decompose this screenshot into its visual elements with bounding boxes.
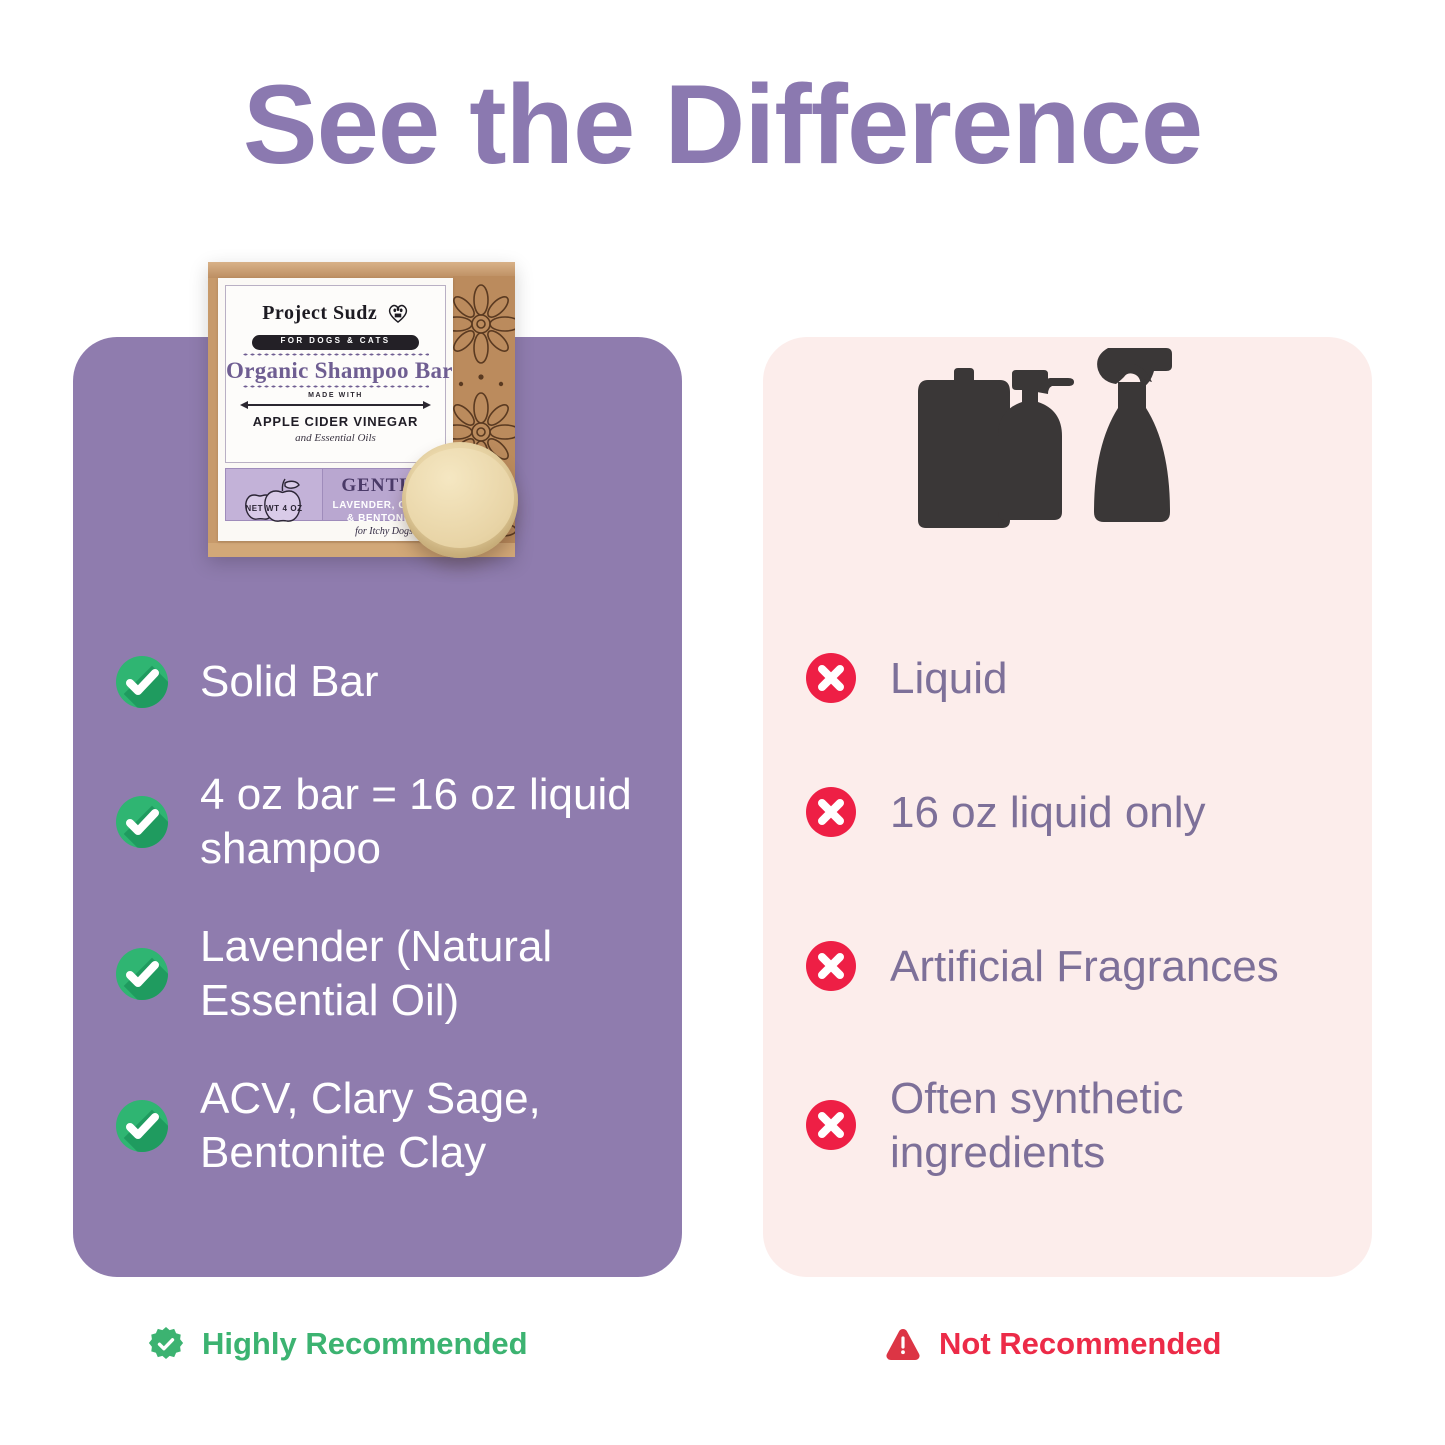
good-list-item-3: Lavender (Natural Essential Oil) (116, 920, 636, 1027)
page-title: See the Difference (0, 66, 1445, 184)
package-label-upper: Project Sudz FOR DOGS & CATS Or (225, 285, 446, 463)
verified-badge-icon (148, 1326, 184, 1362)
main-ingredient: APPLE CIDER VINEGAR (226, 414, 445, 429)
product-title: Organic Shampoo Bar (226, 358, 445, 384)
x-circle-icon (806, 941, 858, 993)
brand-text: Project Sudz (262, 302, 377, 324)
net-weight-text: NET WT 4 OZ (226, 504, 322, 513)
check-circle-icon (116, 796, 168, 848)
good-list-item-1: Solid Bar (116, 655, 636, 709)
good-list-item-2-label: 4 oz bar = 16 oz liquid shampoo (200, 768, 636, 875)
shampoo-bar-product-image: Project Sudz FOR DOGS & CATS Or (180, 238, 580, 598)
tagline-banner: FOR DOGS & CATS (252, 335, 419, 350)
good-list-item-3-label: Lavender (Natural Essential Oil) (200, 920, 636, 1027)
dot-rule-top (242, 353, 429, 356)
plain-bottle-silhouette (918, 368, 1010, 528)
brand-name: Project Sudz (226, 302, 445, 325)
good-list-item-1-label: Solid Bar (200, 655, 379, 709)
infographic-page: See the Difference (0, 0, 1445, 1445)
good-list-item-2: 4 oz bar = 16 oz liquid shampoo (116, 768, 636, 875)
tagline-text: FOR DOGS & CATS (252, 336, 419, 345)
x-circle-icon (806, 1100, 858, 1152)
bad-list-item-2: 16 oz liquid only (806, 786, 1346, 840)
x-circle-icon (806, 653, 858, 705)
check-circle-icon (116, 656, 168, 708)
check-circle-icon (116, 948, 168, 1000)
good-footer: Highly Recommended (148, 1326, 528, 1362)
bad-footer-label: Not Recommended (939, 1326, 1221, 1362)
bad-list-item-4: Often synthetic ingredients (806, 1072, 1326, 1179)
bad-list-item-3: Artificial Fragrances (806, 940, 1366, 994)
soap-bar-disc-icon (402, 442, 518, 558)
good-list-item-4-label: ACV, Clary Sage, Bentonite Clay (200, 1072, 636, 1179)
apple-pane: NET WT 4 OZ (226, 469, 323, 520)
check-circle-icon (116, 1100, 168, 1152)
bad-list-item-1: Liquid (806, 652, 1346, 706)
bad-list-item-2-label: 16 oz liquid only (890, 786, 1206, 840)
x-circle-icon (806, 787, 858, 839)
liquid-bottles-image (890, 268, 1220, 568)
apple-illustration-icon (240, 477, 306, 523)
spray-bottle-silhouette (1094, 348, 1172, 522)
made-with-label: MADE WITH (226, 392, 445, 399)
sub-ingredient: and Essential Oils (226, 432, 445, 444)
bad-list-item-4-label: Often synthetic ingredients (890, 1072, 1326, 1179)
good-footer-label: Highly Recommended (202, 1326, 528, 1362)
bad-list-item-1-label: Liquid (890, 652, 1007, 706)
bad-footer: Not Recommended (885, 1326, 1221, 1362)
bottle-silhouettes-group (890, 268, 1220, 568)
arrow-divider (248, 404, 423, 406)
warning-triangle-icon (885, 1327, 921, 1361)
dot-rule-bottom (242, 385, 429, 388)
bad-list-item-3-label: Artificial Fragrances (890, 940, 1279, 994)
good-list-item-4: ACV, Clary Sage, Bentonite Clay (116, 1072, 636, 1179)
paw-heart-icon (387, 303, 409, 323)
